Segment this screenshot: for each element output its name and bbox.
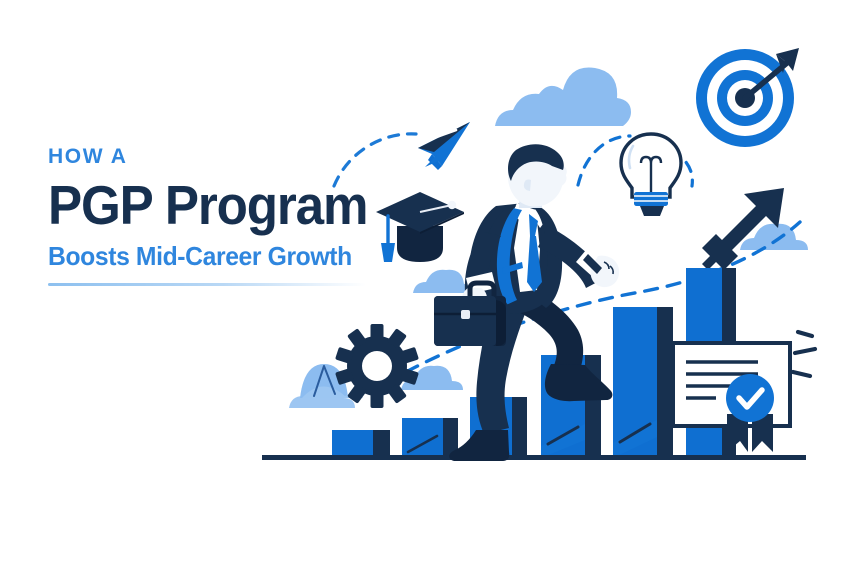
paper-plane-icon <box>418 122 470 170</box>
chart-bar <box>332 430 390 458</box>
lightbulb-icon <box>621 134 681 216</box>
target-icon <box>696 48 799 147</box>
chart-baseline <box>262 455 806 460</box>
headline-block: HOW A PGP Program Boosts Mid-Career Grow… <box>48 146 388 286</box>
headline-subtitle: Boosts Mid-Career Growth <box>48 243 371 269</box>
cloud-icon <box>495 67 631 126</box>
chart-bar <box>613 307 673 458</box>
chart-bar <box>402 418 458 458</box>
graduation-cap-icon <box>376 192 464 262</box>
headline-underline-rule <box>48 283 366 286</box>
page-title: PGP Program <box>48 177 364 233</box>
illustration-artwork <box>0 0 860 573</box>
headline-kicker: HOW A <box>48 146 388 167</box>
infographic-canvas: HOW A PGP Program Boosts Mid-Career Grow… <box>0 0 860 573</box>
